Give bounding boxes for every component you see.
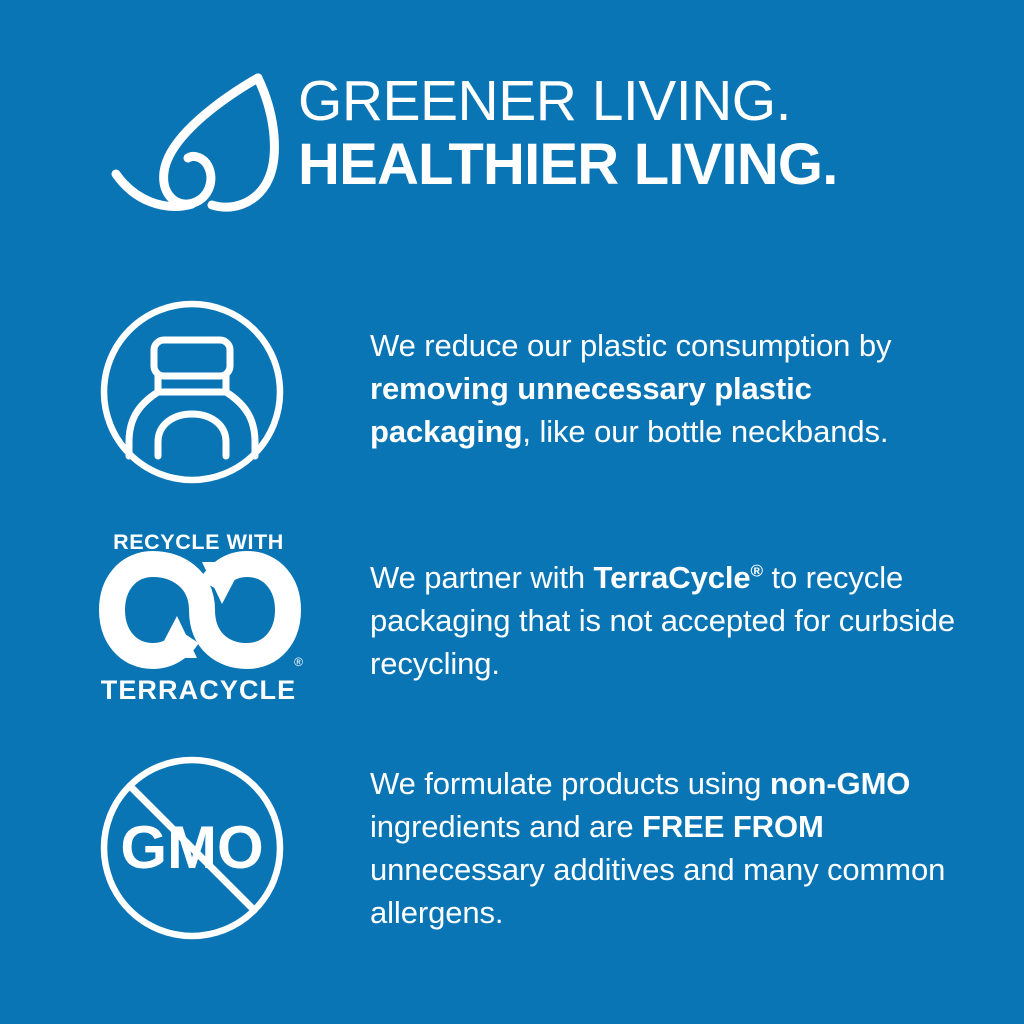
no-gmo-icon-label: GMO xyxy=(120,814,263,881)
feature-row-terracycle: RECYCLE WITH ® xyxy=(0,530,1024,710)
no-gmo-icon: GMO xyxy=(96,752,288,944)
text-run: We reduce our plastic consumption by xyxy=(370,328,891,363)
headline-banner: GREENER LIVING. HEALTHIER LIVING. xyxy=(0,60,1024,230)
infographic-page: GREENER LIVING. HEALTHIER LIVING. xyxy=(0,0,1024,1024)
infinity-recycle-loop-icon: ® xyxy=(98,558,299,662)
text-run: , like our bottle neckbands. xyxy=(522,414,888,449)
headline-line-1: GREENER LIVING. xyxy=(298,70,998,132)
registered-mark: ® xyxy=(751,562,763,581)
feature-row-plastic-reduction: We reduce our plastic consumption by rem… xyxy=(0,296,1024,496)
headline-line-2: HEALTHIER LIVING. xyxy=(298,132,998,198)
text-run-bold: non-GMO xyxy=(770,766,910,801)
text-run: We formulate products using xyxy=(370,766,770,801)
text-run: ingredients and are xyxy=(370,809,642,844)
text-run: We partner with xyxy=(370,560,594,595)
feature-text-plastic-reduction: We reduce our plastic consumption by rem… xyxy=(370,324,980,453)
feature-row-non-gmo: GMO We formulate products using non-GMO … xyxy=(0,752,1024,957)
feature-text-terracycle: We partner with TerraCycle® to recycle p… xyxy=(370,556,980,685)
bottle-neckband-icon xyxy=(96,296,288,488)
text-run-bold: TerraCycle xyxy=(594,560,751,595)
text-run-bold: FREE FROM xyxy=(642,809,824,844)
leaf-icon xyxy=(108,68,294,220)
feature-text-non-gmo: We formulate products using non-GMO ingr… xyxy=(370,762,980,934)
terracycle-logo: RECYCLE WITH ® xyxy=(96,530,301,705)
terracycle-logo-top-text: RECYCLE WITH xyxy=(96,530,301,554)
registered-mark-icon: ® xyxy=(294,656,303,668)
text-run: unnecessary additives and many common al… xyxy=(370,852,945,930)
terracycle-logo-bottom-text: TERRACYCLE xyxy=(96,675,301,705)
headline-text-group: GREENER LIVING. HEALTHIER LIVING. xyxy=(298,70,998,198)
